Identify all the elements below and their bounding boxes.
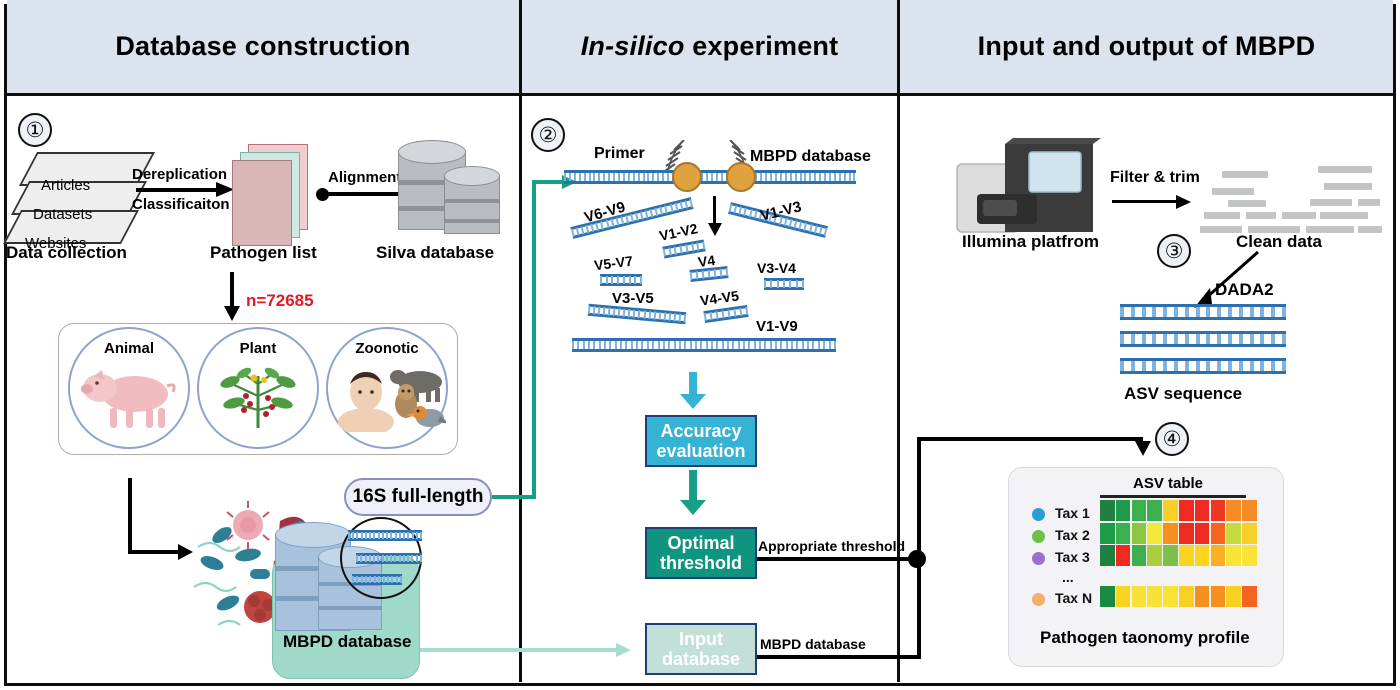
label-pathogen-count: n=72685 <box>246 291 314 311</box>
panel-header-database-construction: Database construction <box>7 0 519 96</box>
caption-pathogen-profile: Pathogen taonomy profile <box>1040 628 1250 648</box>
asv-duplex-2 <box>1120 331 1286 347</box>
box-accuracy-evaluation[interactable]: Accuracy evaluation <box>645 415 757 467</box>
heatmap-cell <box>1116 545 1131 566</box>
caption-pathogen-list: Pathogen list <box>210 243 317 263</box>
tax-label-3: Tax 3 <box>1055 549 1090 565</box>
label-v1-v9: V1-V9 <box>756 318 798 335</box>
arrow-hosts-to-mbpd-horz <box>128 550 180 554</box>
caption-silva-database: Silva database <box>376 243 494 263</box>
label-plant: Plant <box>197 340 319 357</box>
tax-label-n: Tax N <box>1055 590 1092 606</box>
dna-16s-3 <box>352 574 402 585</box>
mbpd-cylinder-large-top <box>275 522 351 548</box>
heatmap-cell <box>1195 500 1210 521</box>
box-optimal-line2: threshold <box>660 553 742 573</box>
label-v4: V4 <box>697 252 716 270</box>
box-optimal-threshold[interactable]: Optimal threshold <box>645 527 757 579</box>
heatmap-cell <box>1242 500 1257 521</box>
label-dereplication: Dereplication <box>132 166 227 183</box>
asv-table-rule <box>1100 495 1246 498</box>
tax-dot-n <box>1032 593 1045 606</box>
arrow-filter-head <box>1176 195 1192 209</box>
heatmap-cell <box>1132 586 1147 607</box>
step-badge-4: ④ <box>1155 422 1189 456</box>
heatmap-cell <box>1116 586 1131 607</box>
panel-divider-1 <box>519 0 522 682</box>
heatmap-cell <box>1100 523 1115 544</box>
heatmap-cell <box>1147 545 1162 566</box>
heatmap-cell <box>1226 545 1241 566</box>
label-dada2: DADA2 <box>1215 280 1274 300</box>
heatmap-cell <box>1226 586 1241 607</box>
arrow-filter-shaft <box>1112 200 1180 203</box>
heatmap-cell <box>1147 586 1162 607</box>
box-input-line2: database <box>662 649 740 669</box>
panel2-title-italic: In-silico <box>581 31 685 61</box>
heatmap-cell <box>1147 523 1162 544</box>
label-alignment: Alignment <box>328 169 401 186</box>
heatmap-cell <box>1116 523 1131 544</box>
heatmap-cell <box>1179 586 1194 607</box>
panel1-title: Database construction <box>115 31 410 62</box>
document-label-datasets: Datasets <box>33 206 92 223</box>
illumina-sequencer-icon <box>955 136 1105 246</box>
green-connector-16s-top <box>532 180 564 184</box>
arrow-to-optimal-shaft <box>689 470 697 503</box>
heatmap-cell <box>1163 523 1178 544</box>
figure-root: Database construction In-silico experime… <box>0 0 1400 690</box>
heatmap-cell <box>1242 523 1257 544</box>
heatmap-cell <box>1195 586 1210 607</box>
label-v3-v5: V3-V5 <box>612 290 654 307</box>
label-mbpd-database-edge: MBPD database <box>760 636 866 652</box>
heatmap-cell <box>1100 545 1115 566</box>
label-classification: Classificaiton <box>132 196 230 213</box>
heatmap-cell <box>1163 545 1178 566</box>
heatmap-cell <box>1100 500 1115 521</box>
heatmap-cell <box>1132 545 1147 566</box>
dna-16s-2 <box>356 553 422 564</box>
route-right-vert <box>917 437 921 659</box>
arrow-dada2 <box>1190 248 1262 310</box>
panel-header-in-silico: In-silico experiment <box>522 0 897 96</box>
arrow-to-hosts-head <box>224 306 240 322</box>
tax-label-2: Tax 2 <box>1055 527 1090 543</box>
tax-dot-1 <box>1032 508 1045 521</box>
heatmap-cell <box>1195 523 1210 544</box>
green-connector-16s-horz <box>492 495 536 499</box>
heatmap-cell <box>1132 500 1147 521</box>
pig-icon <box>80 368 180 430</box>
green-connector-16s-vert <box>532 180 536 499</box>
label-filter-trim: Filter & trim <box>1110 169 1200 187</box>
label-asv-table-title: ASV table <box>1133 475 1203 492</box>
arrow-to-accuracy-shaft <box>689 372 697 396</box>
arrow-to-accuracy-head <box>680 394 706 409</box>
step-badge-3: ③ <box>1157 234 1191 268</box>
arrow-to-hosts-shaft <box>230 272 234 310</box>
box-input-database[interactable]: Input database <box>645 623 757 675</box>
step-badge-2: ② <box>531 118 565 152</box>
heatmap-cell <box>1211 545 1226 566</box>
fragment-v5-v7 <box>600 274 642 286</box>
label-mbpd-database-panel2: MBPD database <box>750 148 871 166</box>
box-accuracy-line1: Accuracy <box>660 421 741 441</box>
heatmap-cell <box>1226 523 1241 544</box>
panel2-title-rest: experiment <box>685 31 839 61</box>
caption-illumina-platform: Illumina platfrom <box>962 232 1099 252</box>
silva-cylinder-small-top <box>444 166 500 186</box>
green-connector-mbpd-horz <box>420 648 620 652</box>
primer-bead-left <box>672 162 702 192</box>
heatmap-cell <box>1179 545 1194 566</box>
arrow-to-optimal-head <box>680 500 706 515</box>
heatmap-cell <box>1195 545 1210 566</box>
pathogen-sheet-front <box>232 160 292 246</box>
plant-icon <box>210 366 306 430</box>
tax-dot-3 <box>1032 552 1045 565</box>
step-badge-1: ① <box>18 113 52 147</box>
panel-divider-2 <box>897 0 900 682</box>
mbpd-cylinder-small-band2 <box>319 606 381 610</box>
label-zoonotic: Zoonotic <box>326 340 448 357</box>
panel2-title: In-silico experiment <box>581 31 839 62</box>
heatmap-cell <box>1163 500 1178 521</box>
panel3-title: Input and output of MBPD <box>978 31 1316 62</box>
heatmap-cell <box>1226 500 1241 521</box>
label-v3-v4: V3-V4 <box>757 260 796 276</box>
box-accuracy-line2: evaluation <box>656 441 745 461</box>
box-input-line1: Input <box>679 629 723 649</box>
fragment-v3-v4 <box>764 278 804 290</box>
route-junction-dot <box>908 550 926 568</box>
arrow-hosts-to-mbpd-vert <box>128 478 132 553</box>
caption-data-collection: Data collection <box>6 243 127 263</box>
primer-bead-right <box>726 162 756 192</box>
box-optimal-line1: Optimal <box>667 533 734 553</box>
fragment-v1-v9 <box>572 338 836 352</box>
heatmap-cell <box>1100 586 1115 607</box>
heatmap-cell <box>1116 500 1131 521</box>
heatmap-cell <box>1179 500 1194 521</box>
label-primer: Primer <box>594 145 645 163</box>
heatmap-cell <box>1211 586 1226 607</box>
human-animals-icon <box>336 366 446 432</box>
heatmap-cell <box>1147 500 1162 521</box>
route-optimal-horz <box>757 557 920 561</box>
heatmap-cell <box>1163 586 1178 607</box>
tax-dot-2 <box>1032 530 1045 543</box>
route-top-horz <box>917 437 1143 441</box>
silva-cylinder-small-band1 <box>445 199 499 203</box>
pill-16s-full-length: 16S full-length <box>344 478 492 516</box>
label-appropriate-threshold: Appropriate threshold <box>758 538 905 554</box>
silva-cylinder-large-top <box>398 140 466 164</box>
route-input-horz <box>757 655 920 659</box>
alignment-line <box>326 192 402 196</box>
green-connector-mbpd-arrowhead <box>616 643 632 657</box>
tax-label-1: Tax 1 <box>1055 505 1090 521</box>
heatmap-cell <box>1242 545 1257 566</box>
arrow-amplify-head <box>708 223 722 236</box>
heatmap-cell <box>1179 523 1194 544</box>
silva-cylinder-small-band2 <box>445 219 499 223</box>
document-label-articles: Articles <box>41 177 90 194</box>
heatmap-cell <box>1132 523 1147 544</box>
arrow-amplify-shaft <box>713 196 716 226</box>
heatmap-cell <box>1211 500 1226 521</box>
tax-label-ellipsis: ... <box>1062 569 1074 585</box>
asv-duplex-1 <box>1120 304 1286 320</box>
label-animal: Animal <box>68 340 190 357</box>
arrow-to-asv-table-head <box>1135 441 1151 457</box>
arrow-dereplication-shaft <box>136 188 221 192</box>
caption-mbpd-database: MBPD database <box>283 632 411 652</box>
panel-header-input-output: Input and output of MBPD <box>900 0 1393 96</box>
caption-asv-sequence: ASV sequence <box>1124 384 1242 404</box>
template-duplex <box>564 170 856 184</box>
heatmap-cell <box>1211 523 1226 544</box>
asv-duplex-3 <box>1120 358 1286 374</box>
heatmap-cell <box>1242 586 1257 607</box>
dna-16s-1 <box>348 530 422 541</box>
